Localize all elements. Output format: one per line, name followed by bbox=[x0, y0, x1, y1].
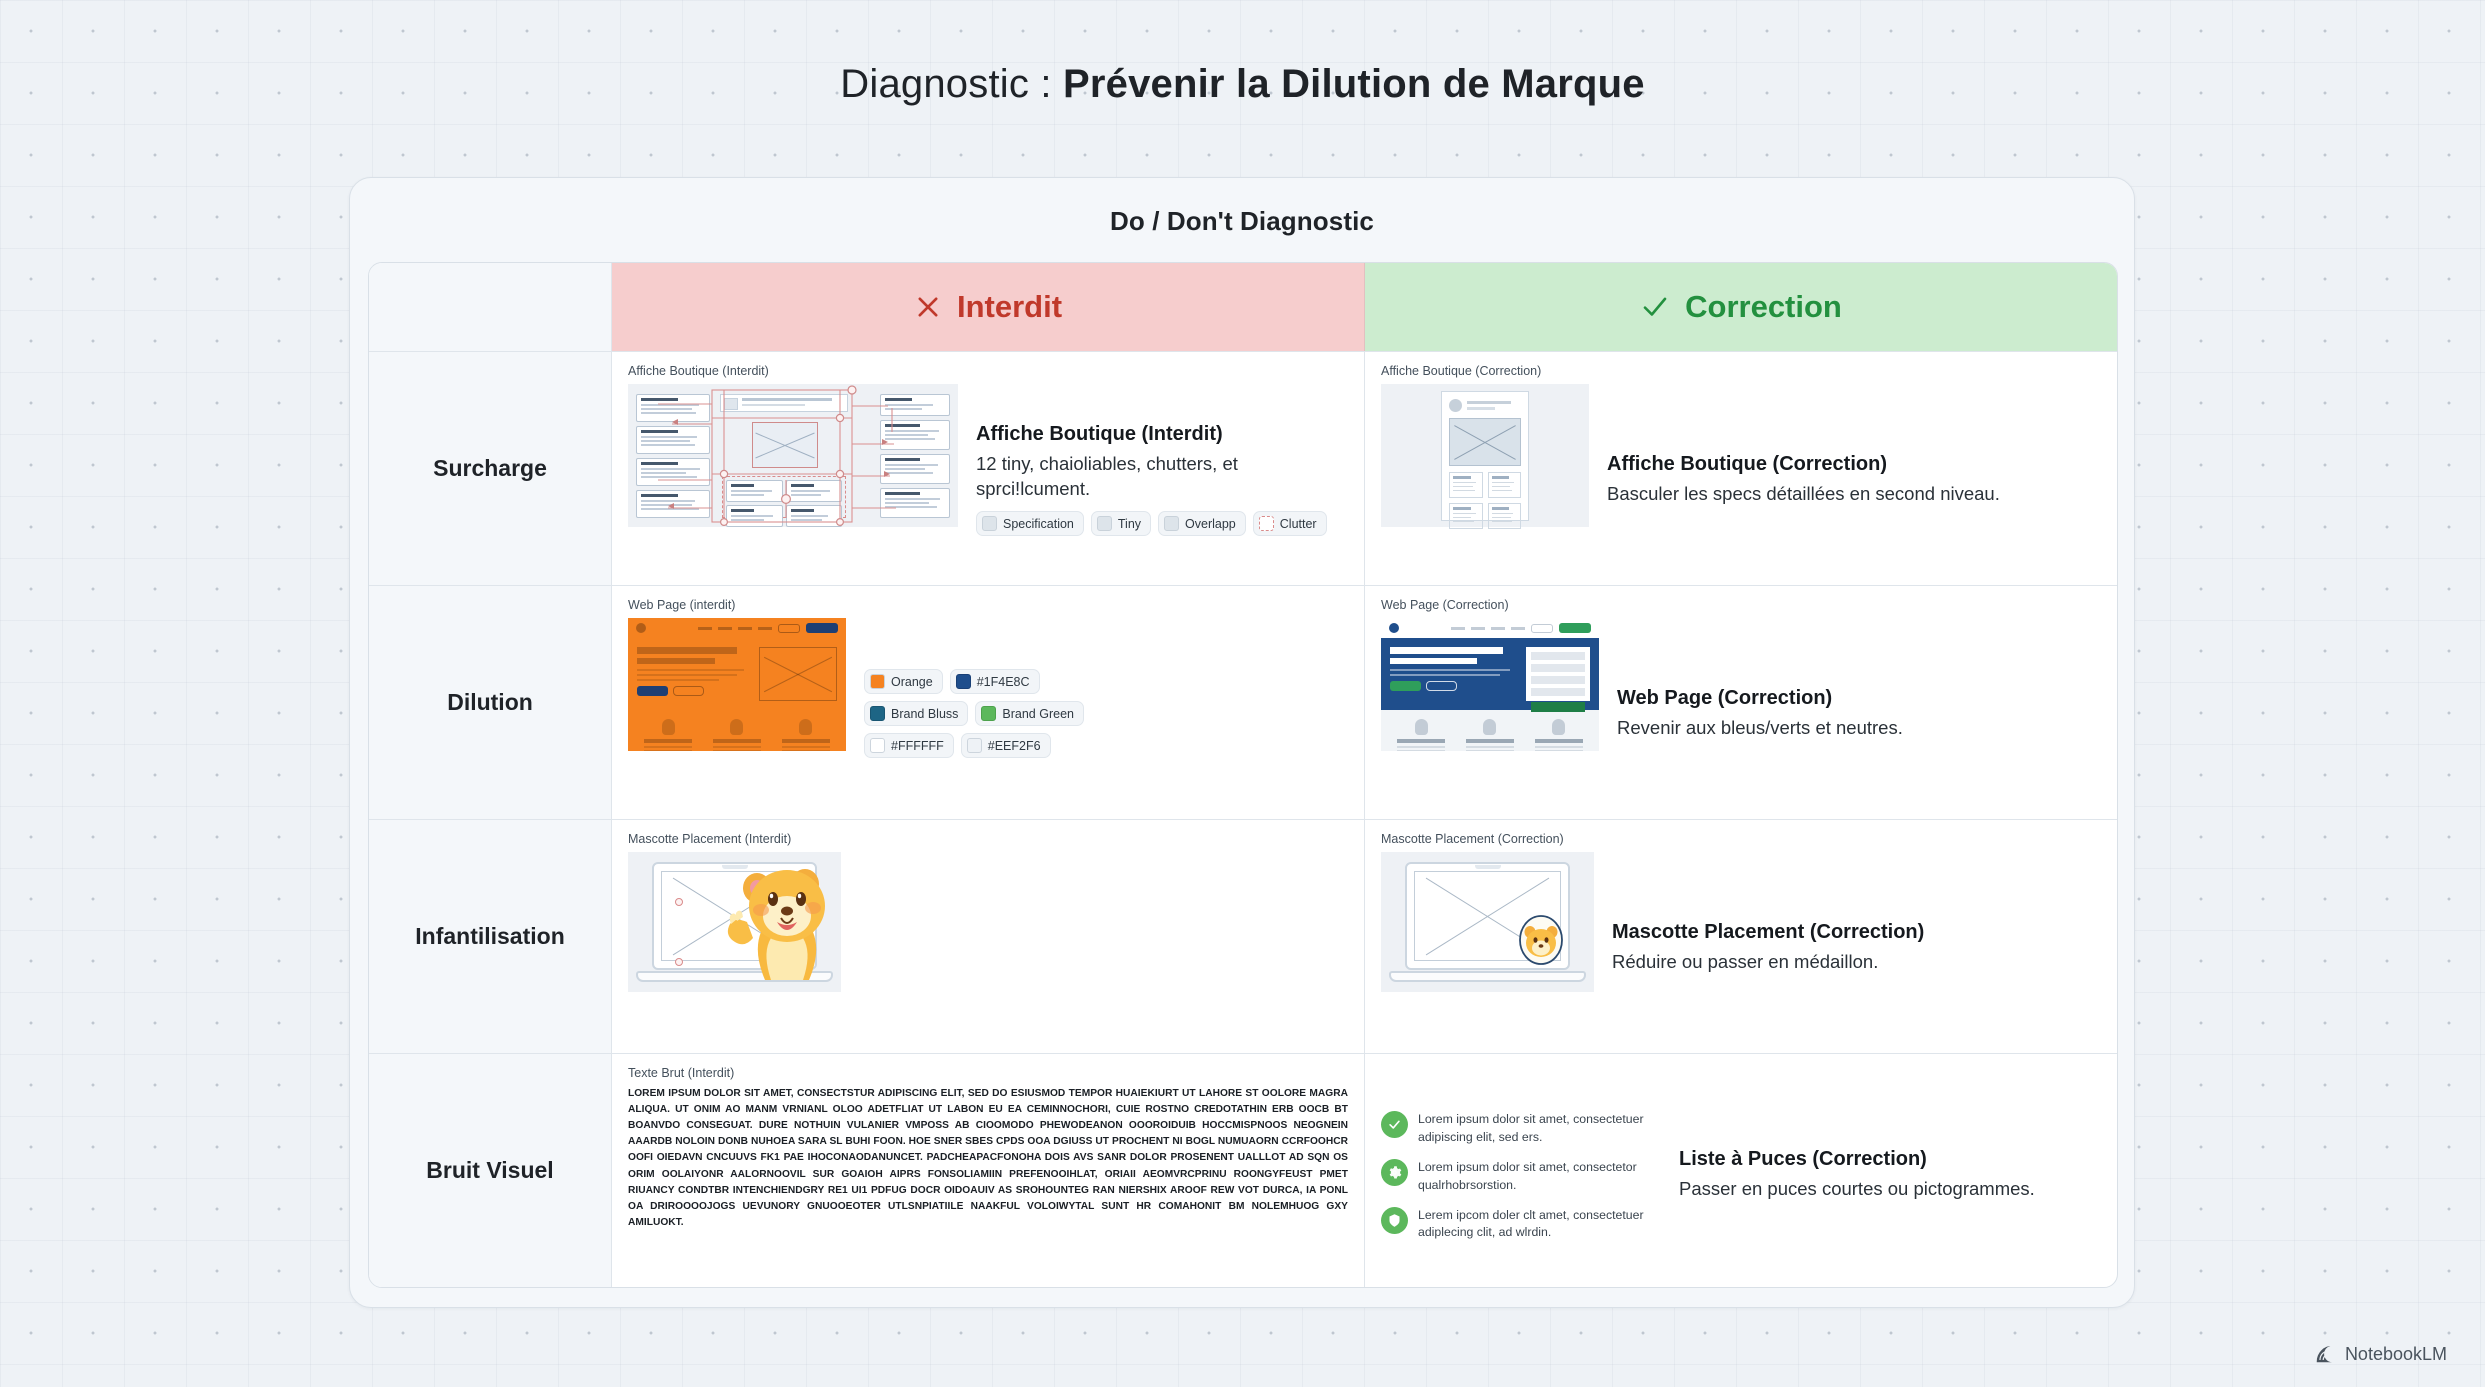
chip-swatch-icon bbox=[1259, 516, 1274, 531]
cell-caption: Affiche Boutique (Correction) bbox=[1381, 364, 2101, 378]
row-label-bruit-visuel: Bruit Visuel bbox=[369, 1054, 612, 1287]
chip-label: Clutter bbox=[1280, 517, 1317, 531]
cell-caption: Mascotte Placement (Interdit) bbox=[628, 832, 1348, 846]
tag-chip-group: Specification Tiny Overlapp Clutter bbox=[976, 511, 1348, 536]
laptop-mascot-oversized-mockup bbox=[628, 852, 841, 992]
color-swatch-icon bbox=[870, 674, 885, 689]
cluttered-poster-mockup bbox=[628, 384, 958, 527]
color-swatch-chip[interactable]: #EEF2F6 bbox=[961, 733, 1051, 758]
color-swatch-icon bbox=[870, 738, 885, 753]
laptop-mascot-medallion-mockup bbox=[1381, 852, 1594, 992]
blue-webpage-mockup bbox=[1381, 618, 1599, 751]
tag-chip[interactable]: Overlapp bbox=[1158, 511, 1246, 536]
list-item-text: Lorem ipsum dolor sit amet, consectetuer… bbox=[1418, 1111, 1661, 1146]
raw-text-block-mockup: LOREM IPSUM DOLOR SIT AMET, CONSECTSTUR … bbox=[628, 1086, 1348, 1231]
cell-caption: Affiche Boutique (Interdit) bbox=[628, 364, 1348, 378]
column-header-correction: Correction bbox=[1365, 263, 2117, 351]
color-swatch-icon bbox=[956, 674, 971, 689]
tag-chip[interactable]: Tiny bbox=[1091, 511, 1151, 536]
cell-infantilisation-correction: Mascotte Placement (Correction) bbox=[1365, 820, 2117, 1053]
chip-swatch-icon bbox=[1164, 516, 1179, 531]
description-block: Mascotte Placement (Correction) Réduire … bbox=[1612, 921, 2101, 975]
list-item: Lorem ipsum dolor sit amet, consectetor … bbox=[1381, 1159, 1661, 1194]
color-swatch-label: #FFFFFF bbox=[891, 739, 944, 753]
row-label-infantilisation: Infantilisation bbox=[369, 820, 612, 1053]
cell-dilution-interdit: Web Page (interdit) bbox=[612, 586, 1365, 819]
cell-caption: Web Page (Correction) bbox=[1381, 598, 2101, 612]
check-circle-icon bbox=[1381, 1111, 1408, 1138]
notebooklm-spiral-icon bbox=[2314, 1343, 2336, 1365]
description-block: Affiche Boutique (Correction) Basculer l… bbox=[1607, 453, 2101, 507]
color-swatch-chip[interactable]: Orange bbox=[864, 669, 943, 694]
color-swatch-label: Orange bbox=[891, 675, 933, 689]
watermark-label: NotebookLM bbox=[2345, 1344, 2447, 1365]
clean-poster-mockup bbox=[1381, 384, 1589, 527]
cell-caption: Texte Brut (Interdit) bbox=[628, 1066, 1348, 1080]
column-header-interdit-label: Interdit bbox=[957, 289, 1062, 325]
table-row: Surcharge Affiche Boutique (Interdit) bbox=[369, 351, 2117, 585]
color-swatch-icon bbox=[870, 706, 885, 721]
bear-mascot-icon bbox=[717, 854, 845, 986]
cell-dilution-correction: Web Page (Correction) bbox=[1365, 586, 2117, 819]
list-item: Lerem ipcom doler clt amet, consectetuer… bbox=[1381, 1207, 1661, 1242]
cell-caption: Mascotte Placement (Correction) bbox=[1381, 832, 2101, 846]
color-swatch-chip[interactable]: #FFFFFF bbox=[864, 733, 954, 758]
table-row: Infantilisation Mascotte Placement (Inte… bbox=[369, 819, 2117, 1053]
raw-text-paragraph: LOREM IPSUM DOLOR SIT AMET, CONSECTSTUR … bbox=[628, 1086, 1348, 1231]
table-row: Dilution Web Page (interdit) bbox=[369, 585, 2117, 819]
notebooklm-watermark: NotebookLM bbox=[2314, 1343, 2447, 1365]
chip-label: Overlapp bbox=[1185, 517, 1236, 531]
orange-webpage-mockup bbox=[628, 618, 846, 751]
column-header-correction-label: Correction bbox=[1685, 289, 1842, 325]
description-text: Revenir aux bleus/verts et neutres. bbox=[1617, 716, 2101, 741]
gear-circle-icon bbox=[1381, 1159, 1408, 1186]
color-swatch-chip[interactable]: Brand Bluss bbox=[864, 701, 968, 726]
shield-circle-icon bbox=[1381, 1207, 1408, 1234]
list-item-text: Lerem ipcom doler clt amet, consectetuer… bbox=[1418, 1207, 1661, 1242]
description-text: Passer en puces courtes ou pictogrammes. bbox=[1679, 1177, 2101, 1202]
color-swatch-label: Brand Bluss bbox=[891, 707, 958, 721]
cell-caption: Web Page (interdit) bbox=[628, 598, 1348, 612]
color-swatch-chip[interactable]: Brand Green bbox=[975, 701, 1084, 726]
cell-bruit-visuel-interdit: Texte Brut (Interdit) LOREM IPSUM DOLOR … bbox=[612, 1054, 1365, 1287]
description-title: Liste à Puces (Correction) bbox=[1679, 1148, 2101, 1171]
table-row: Bruit Visuel Texte Brut (Interdit) LOREM… bbox=[369, 1053, 2117, 1287]
list-item-text: Lorem ipsum dolor sit amet, consectetor … bbox=[1418, 1159, 1661, 1194]
description-title: Mascotte Placement (Correction) bbox=[1612, 921, 2101, 944]
color-swatch-label: Brand Green bbox=[1002, 707, 1074, 721]
color-swatch-label: #1F4E8C bbox=[977, 675, 1030, 689]
cell-surcharge-interdit: Affiche Boutique (Interdit) bbox=[612, 352, 1365, 585]
row-label-surcharge: Surcharge bbox=[369, 352, 612, 585]
color-swatch-chip[interactable]: #1F4E8C bbox=[950, 669, 1040, 694]
cell-infantilisation-interdit: Mascotte Placement (Interdit) bbox=[612, 820, 1365, 1053]
tag-chip[interactable]: Clutter bbox=[1253, 511, 1327, 536]
chip-swatch-icon bbox=[1097, 516, 1112, 531]
table-header-row: Interdit Correction bbox=[369, 263, 2117, 351]
bear-medallion-icon bbox=[1518, 914, 1564, 966]
chip-label: Tiny bbox=[1118, 517, 1141, 531]
description-text: Basculer les specs détaillées en second … bbox=[1607, 482, 2101, 507]
color-swatch-icon bbox=[981, 706, 996, 721]
description-block: Web Page (Correction) Revenir aux bleus/… bbox=[1617, 687, 2101, 741]
bullet-list-mockup: Lorem ipsum dolor sit amet, consectetuer… bbox=[1381, 1107, 1661, 1242]
description-title: Affiche Boutique (Correction) bbox=[1607, 453, 2101, 476]
page-title-strong: Prévenir la Dilution de Marque bbox=[1063, 62, 1645, 106]
page-title-lead: Diagnostic : bbox=[840, 62, 1063, 106]
color-swatch-group: Orange #1F4E8C Brand Bluss Brand Green #… bbox=[864, 669, 1124, 758]
color-swatch-label: #EEF2F6 bbox=[988, 739, 1041, 753]
description-title: Web Page (Correction) bbox=[1617, 687, 2101, 710]
diagnostic-card: Do / Don't Diagnostic Interdit Correctio… bbox=[349, 177, 2135, 1308]
row-label-dilution: Dilution bbox=[369, 586, 612, 819]
x-cross-icon bbox=[914, 293, 942, 321]
description-block: Affiche Boutique (Interdit) 12 tiny, cha… bbox=[976, 423, 1348, 537]
page-title: Diagnostic : Prévenir la Dilution de Mar… bbox=[0, 0, 2485, 107]
cell-bruit-visuel-correction: Lorem ipsum dolor sit amet, consectetuer… bbox=[1365, 1054, 2117, 1287]
description-text: 12 tiny, chaioliables, chutters, et sprc… bbox=[976, 452, 1348, 502]
card-heading: Do / Don't Diagnostic bbox=[350, 178, 2134, 237]
description-text: Réduire ou passer en médaillon. bbox=[1612, 950, 2101, 975]
chip-label: Specification bbox=[1003, 517, 1074, 531]
cell-surcharge-correction: Affiche Boutique (Correction) bbox=[1365, 352, 2117, 585]
chip-swatch-icon bbox=[982, 516, 997, 531]
description-block: Liste à Puces (Correction) Passer en puc… bbox=[1679, 1148, 2101, 1202]
do-dont-table: Interdit Correction Surcharge Affiche Bo… bbox=[368, 262, 2118, 1288]
check-mark-icon bbox=[1640, 292, 1670, 322]
tag-chip[interactable]: Specification bbox=[976, 511, 1084, 536]
list-item: Lorem ipsum dolor sit amet, consectetuer… bbox=[1381, 1111, 1661, 1146]
color-swatch-icon bbox=[967, 738, 982, 753]
description-title: Affiche Boutique (Interdit) bbox=[976, 423, 1348, 446]
column-header-interdit: Interdit bbox=[612, 263, 1365, 351]
table-corner-cell bbox=[369, 263, 612, 351]
